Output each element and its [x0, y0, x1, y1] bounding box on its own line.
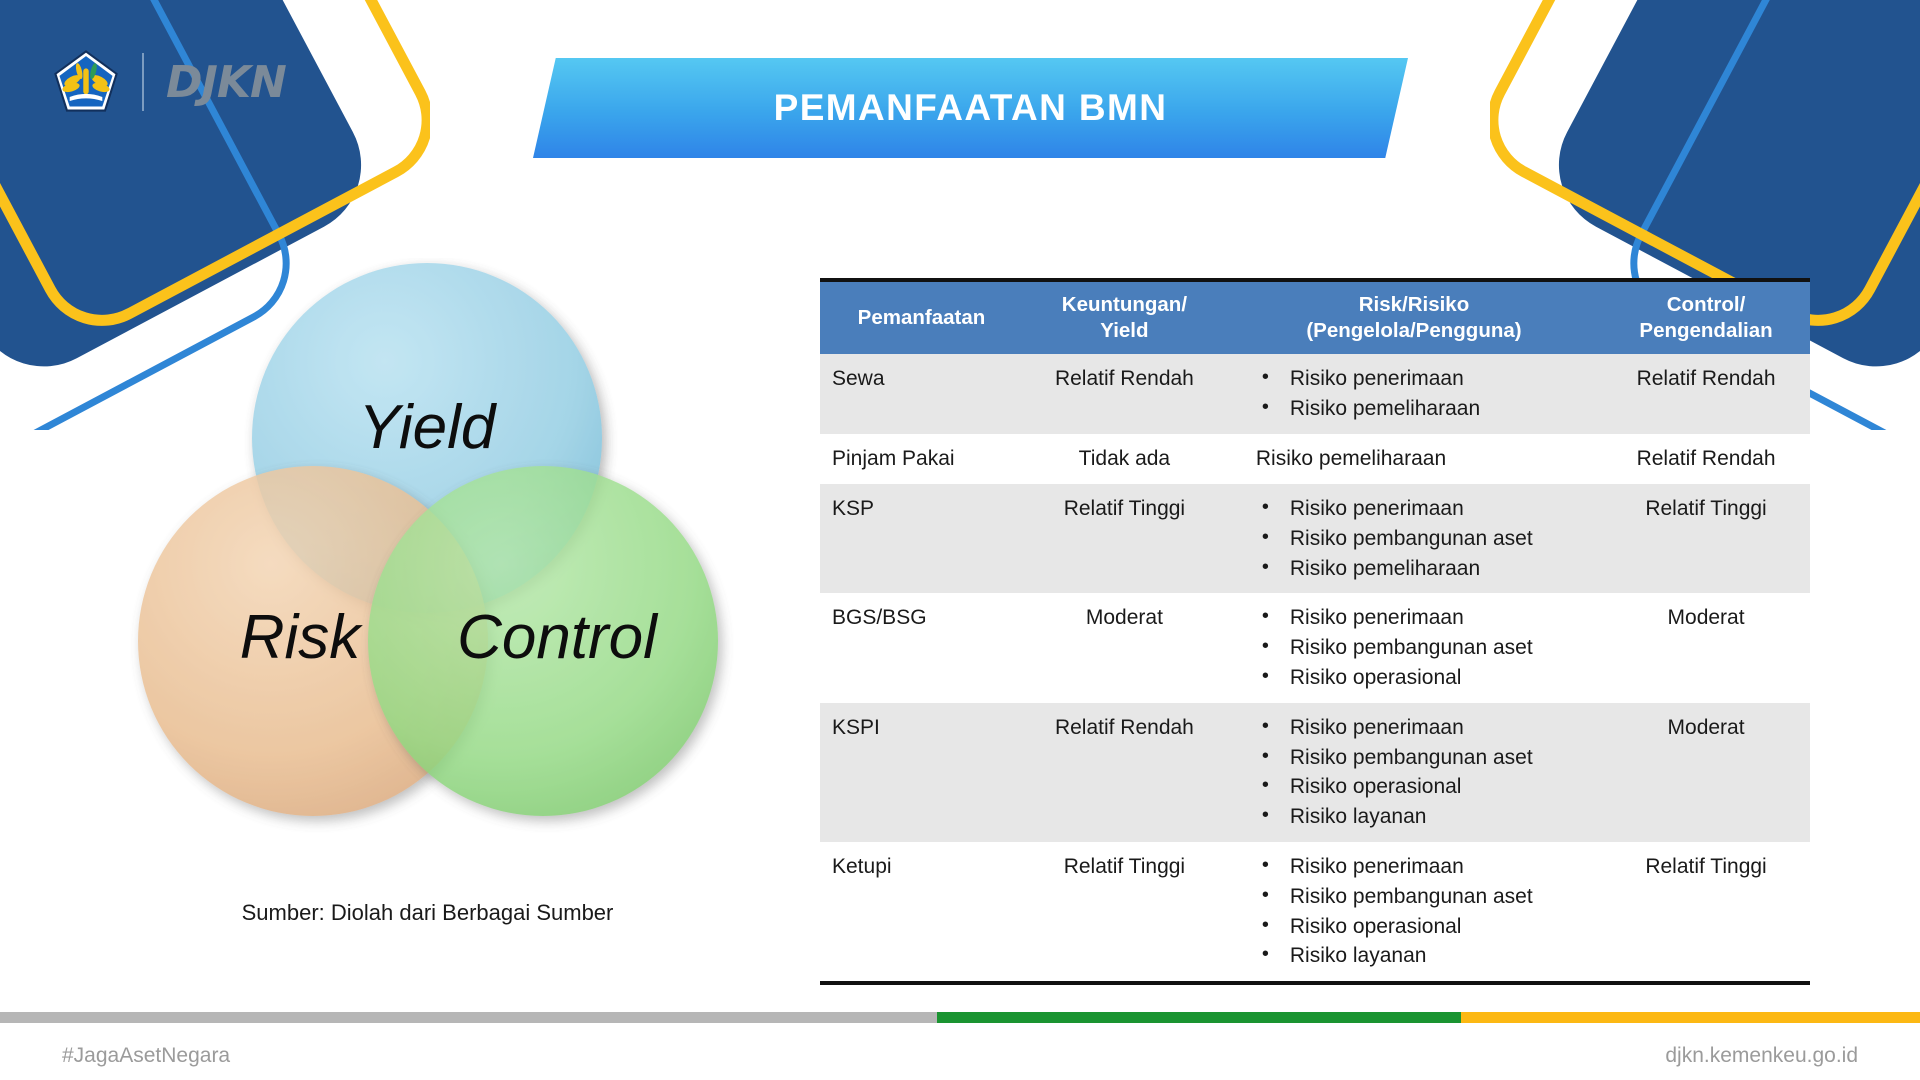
cell-keuntungan: Moderat [1023, 593, 1226, 702]
pemanfaatan-table: Pemanfaatan Keuntungan/ Yield Risk/Risik… [820, 278, 1810, 985]
cell-pemanfaatan: Pinjam Pakai [820, 434, 1023, 484]
column-header-keuntungan: Keuntungan/ Yield [1023, 280, 1226, 354]
risiko-list-item: Risiko layanan [1254, 802, 1590, 832]
risiko-list-item: Risiko pemeliharaan [1254, 554, 1590, 584]
risiko-list: Risiko penerimaanRisiko pembangunan aset… [1254, 494, 1590, 583]
cell-risiko: Risiko penerimaanRisiko pemeliharaan [1226, 354, 1602, 434]
venn-label-risk: Risk [240, 603, 364, 672]
footer-bar-green [937, 1012, 1461, 1023]
risiko-list-item: Risiko layanan [1254, 941, 1590, 971]
footer-color-bar [0, 1012, 1920, 1023]
risiko-list-item: Risiko pembangunan aset [1254, 882, 1590, 912]
cell-risiko: Risiko penerimaanRisiko pembangunan aset… [1226, 593, 1602, 702]
risiko-list-item: Risiko operasional [1254, 663, 1590, 693]
cell-keuntungan: Relatif Tinggi [1023, 484, 1226, 593]
cell-pemanfaatan: Ketupi [820, 842, 1023, 983]
table-row: KSPRelatif TinggiRisiko penerimaanRisiko… [820, 484, 1810, 593]
cell-keuntungan: Relatif Tinggi [1023, 842, 1226, 983]
cell-risiko: Risiko penerimaanRisiko pembangunan aset… [1226, 484, 1602, 593]
risiko-list: Risiko penerimaanRisiko pembangunan aset… [1254, 603, 1590, 692]
venn-label-control: Control [457, 603, 659, 672]
cell-pemanfaatan: Sewa [820, 354, 1023, 434]
pemanfaatan-table-container: Pemanfaatan Keuntungan/ Yield Risk/Risik… [820, 278, 1810, 985]
venn-label-yield: Yield [359, 393, 498, 462]
cell-keuntungan: Relatif Rendah [1023, 703, 1226, 842]
risiko-list-item: Risiko pembangunan aset [1254, 633, 1590, 663]
cell-risiko: Risiko pemeliharaan [1226, 434, 1602, 484]
cell-keuntungan: Relatif Rendah [1023, 354, 1226, 434]
risiko-list-item: Risiko operasional [1254, 912, 1590, 942]
kemenkeu-emblem-icon [52, 48, 120, 116]
cell-control: Relatif Rendah [1602, 354, 1810, 434]
risiko-list-item: Risiko pemeliharaan [1254, 394, 1590, 424]
risiko-list-item: Risiko penerimaan [1254, 364, 1590, 394]
risiko-list: Risiko penerimaanRisiko pembangunan aset… [1254, 852, 1590, 971]
logo-wordmark: DJKN [166, 57, 286, 108]
risiko-list: Risiko penerimaanRisiko pembangunan aset… [1254, 713, 1590, 832]
table-header-row: Pemanfaatan Keuntungan/ Yield Risk/Risik… [820, 280, 1810, 354]
risiko-list-item: Risiko penerimaan [1254, 494, 1590, 524]
column-header-control: Control/ Pengendalian [1602, 280, 1810, 354]
cell-control: Relatif Tinggi [1602, 484, 1810, 593]
page-title-banner: PEMANFAATAN BMN [533, 58, 1408, 158]
risiko-list-item: Risiko penerimaan [1254, 603, 1590, 633]
footer-bar-gold [1461, 1012, 1920, 1023]
cell-control: Relatif Rendah [1602, 434, 1810, 484]
risiko-list-item: Risiko pembangunan aset [1254, 524, 1590, 554]
column-header-pemanfaatan: Pemanfaatan [820, 280, 1023, 354]
table-row: KSPIRelatif RendahRisiko penerimaanRisik… [820, 703, 1810, 842]
cell-keuntungan: Tidak ada [1023, 434, 1226, 484]
risiko-list-item: Risiko penerimaan [1254, 713, 1590, 743]
cell-control: Relatif Tinggi [1602, 842, 1810, 983]
table-row: BGS/BSGModeratRisiko penerimaanRisiko pe… [820, 593, 1810, 702]
venn-diagram: Yield Risk Control [95, 258, 760, 878]
risiko-list-item: Risiko pembangunan aset [1254, 743, 1590, 773]
cell-pemanfaatan: BGS/BSG [820, 593, 1023, 702]
cell-control: Moderat [1602, 593, 1810, 702]
risiko-list-item: Risiko operasional [1254, 772, 1590, 802]
cell-risiko: Risiko penerimaanRisiko pembangunan aset… [1226, 703, 1602, 842]
risiko-text: Risiko pemeliharaan [1254, 444, 1590, 474]
brand-logo: DJKN [52, 48, 286, 116]
cell-risiko: Risiko penerimaanRisiko pembangunan aset… [1226, 842, 1602, 983]
cell-pemanfaatan: KSPI [820, 703, 1023, 842]
footer-bar-grey [0, 1012, 937, 1023]
cell-control: Moderat [1602, 703, 1810, 842]
table-row: KetupiRelatif TinggiRisiko penerimaanRis… [820, 842, 1810, 983]
table-body: SewaRelatif RendahRisiko penerimaanRisik… [820, 354, 1810, 983]
table-row: SewaRelatif RendahRisiko penerimaanRisik… [820, 354, 1810, 434]
table-row: Pinjam PakaiTidak adaRisiko pemeliharaan… [820, 434, 1810, 484]
risiko-list: Risiko penerimaanRisiko pemeliharaan [1254, 364, 1590, 424]
venn-caption: Sumber: Diolah dari Berbagai Sumber [95, 900, 760, 926]
footer-website: djkn.kemenkeu.go.id [1665, 1044, 1858, 1068]
column-header-risiko: Risk/Risiko (Pengelola/Pengguna) [1226, 280, 1602, 354]
page-title: PEMANFAATAN BMN [774, 87, 1168, 129]
risiko-list-item: Risiko penerimaan [1254, 852, 1590, 882]
cell-pemanfaatan: KSP [820, 484, 1023, 593]
logo-divider [142, 53, 144, 111]
footer-hashtag: #JagaAsetNegara [62, 1044, 230, 1068]
